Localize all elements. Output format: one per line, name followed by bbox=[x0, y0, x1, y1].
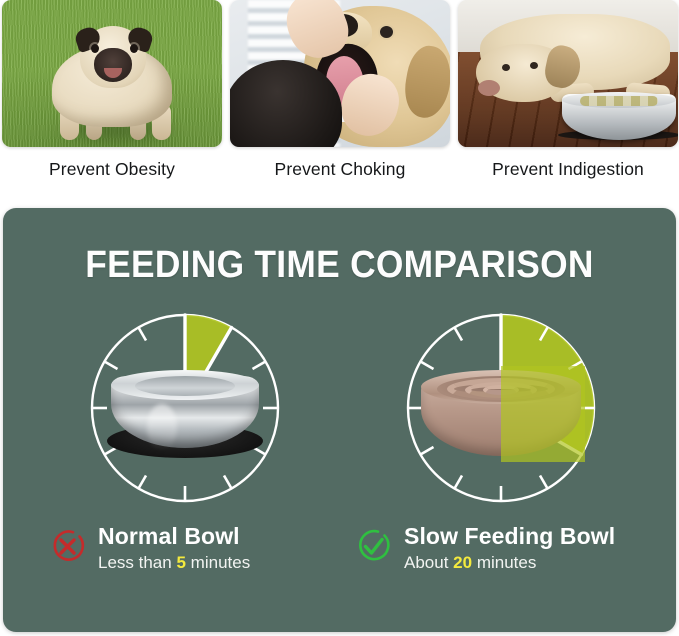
photo-obesity bbox=[2, 0, 222, 147]
label-subtitle-normal: Less than 5 minutes bbox=[98, 553, 250, 573]
pug-eye bbox=[130, 44, 138, 53]
stainless-steel-bowl bbox=[101, 366, 269, 462]
benefit-card-choking: Prevent Choking bbox=[230, 0, 450, 196]
clock-normal-bowl bbox=[17, 304, 353, 519]
labrador-nose bbox=[478, 80, 500, 96]
panel-title: FEEDING TIME COMPARISON bbox=[27, 244, 653, 287]
label-subtitle-slow: About 20 minutes bbox=[404, 553, 615, 573]
label-title-normal: Normal Bowl bbox=[98, 524, 250, 549]
photo-choking bbox=[230, 0, 450, 147]
benefit-card-obesity: Prevent Obesity bbox=[2, 0, 222, 196]
benefit-caption-obesity: Prevent Obesity bbox=[2, 159, 222, 180]
clock-slow-feeding-bowl bbox=[333, 304, 669, 519]
subtitle-prefix-normal: Less than bbox=[98, 553, 172, 572]
slow-feeder-maze-bowl bbox=[417, 366, 585, 462]
benefit-caption-choking: Prevent Choking bbox=[230, 159, 450, 180]
clock-row bbox=[3, 304, 676, 519]
product-infographic: Prevent Obesity Prevent Choking bbox=[0, 0, 679, 636]
subtitle-number-slow: 20 bbox=[453, 553, 472, 572]
label-text-normal: Normal Bowl Less than 5 minutes bbox=[98, 524, 250, 572]
subtitle-suffix-slow: minutes bbox=[477, 553, 537, 572]
photo-indigestion bbox=[458, 0, 678, 147]
pug-eye bbox=[91, 44, 99, 53]
maze-ridge bbox=[483, 385, 519, 395]
labrador-eye bbox=[530, 62, 538, 69]
comparison-labels: Normal Bowl Less than 5 minutes S bbox=[3, 524, 676, 610]
circle-x-icon bbox=[49, 528, 86, 565]
bowl-food bbox=[580, 96, 658, 106]
subtitle-number-normal: 5 bbox=[176, 553, 185, 572]
labrador-eye bbox=[502, 64, 510, 71]
circle-check-icon bbox=[355, 528, 392, 565]
subtitle-prefix-slow: About bbox=[404, 553, 448, 572]
benefit-card-indigestion: Prevent Indigestion bbox=[458, 0, 678, 196]
feeding-time-comparison-panel: FEEDING TIME COMPARISON bbox=[3, 208, 676, 632]
subtitle-suffix-normal: minutes bbox=[191, 553, 251, 572]
label-text-slow: Slow Feeding Bowl About 20 minutes bbox=[404, 524, 615, 572]
label-title-slow: Slow Feeding Bowl bbox=[404, 524, 615, 549]
bowl-inner-well bbox=[135, 376, 235, 396]
label-normal-bowl: Normal Bowl Less than 5 minutes bbox=[49, 524, 250, 610]
bowl-highlight bbox=[147, 404, 177, 450]
label-slow-feeding-bowl: Slow Feeding Bowl About 20 minutes bbox=[355, 524, 615, 610]
benefit-caption-indigestion: Prevent Indigestion bbox=[458, 159, 678, 180]
benefits-strip: Prevent Obesity Prevent Choking bbox=[0, 0, 679, 196]
dog-eye bbox=[380, 26, 393, 38]
